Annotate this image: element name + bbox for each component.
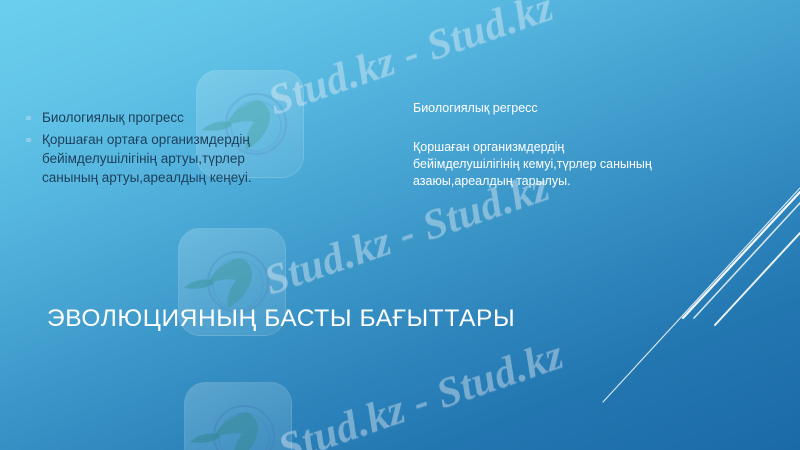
list-item-label: Биологиялық прогресс <box>42 108 264 127</box>
leaf-bird-logo-watermark <box>184 382 292 450</box>
list-item: ⚭ Биологиялық прогресс <box>24 108 264 128</box>
presentation-slide: Stud.kz - Stud.kz Stud.kz - Stud.kz Stud… <box>0 0 800 450</box>
list-item-label: Қоршаған ортаға организмдердің бейімделу… <box>42 130 264 187</box>
left-bullet-list: ⚭ Биологиялық прогресс ⚭ Қоршаған ортаға… <box>24 108 264 189</box>
list-item: ⚭ Қоршаған ортаға организмдердің бейімде… <box>24 130 264 187</box>
stud-kz-watermark: Stud.kz - Stud.kz <box>272 331 569 450</box>
chain-link-bullet-icon: ⚭ <box>24 108 42 128</box>
diagonal-accent-lines <box>0 0 800 450</box>
right-heading: Биологиялық регресс <box>413 100 663 117</box>
logo-plate <box>184 382 292 450</box>
leaf-bird-icon <box>184 382 292 450</box>
right-body: Қоршаған организмдердің бейімделушілігін… <box>413 139 663 190</box>
chain-link-bullet-icon: ⚭ <box>24 130 42 150</box>
page-title: ЭВОЛЮЦИЯНЫҢ БАСТЫ БАҒЫТТАРЫ <box>47 303 747 335</box>
right-text-block: Биологиялық регресс Қоршаған организмдер… <box>413 100 663 190</box>
